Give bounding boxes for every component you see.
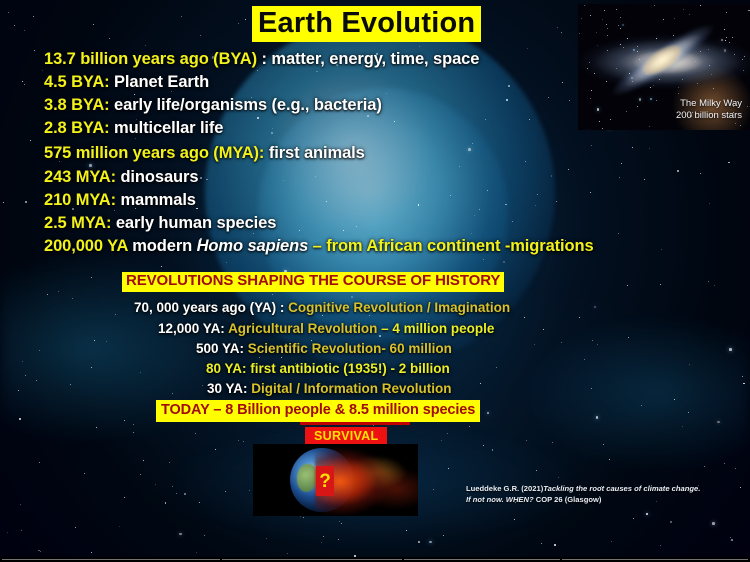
timeline-row: 575 million years ago (MYA): first anima… — [44, 144, 365, 163]
sapiens-time: 200,000 YA — [44, 237, 128, 255]
timeline-event: matter, energy, time, space — [271, 50, 479, 68]
timeline-time: 3.8 BYA: — [44, 96, 110, 114]
timeline-event: multicellar life — [114, 119, 223, 137]
revolution-event: Scientific Revolution- 60 million — [248, 341, 452, 356]
sapiens-pre: modern — [128, 237, 197, 255]
timeline-event: first animals — [269, 144, 365, 162]
milky-way-caption-line1: The Milky Way — [676, 98, 742, 110]
timeline-row: 210 MYA: mammals — [44, 191, 196, 210]
bottom-strip-segment — [404, 559, 560, 560]
question-mark-badge: ? — [316, 466, 334, 496]
sapiens-species: Homo sapiens — [197, 237, 309, 255]
sapiens-post: – from African continent -migrations — [308, 237, 593, 255]
revolution-row: 80 YA: first antibiotic (1935!) - 2 bill… — [206, 361, 450, 376]
timeline-row: 4.5 BYA: Planet Earth — [44, 73, 209, 92]
slide-canvas: Earth Evolution The Milky Way 200 billio… — [0, 0, 750, 562]
timeline-time: 4.5 BYA: — [44, 73, 110, 91]
revolution-time: 12,000 YA: — [158, 321, 228, 336]
page-title: Earth Evolution — [252, 6, 481, 42]
revolution-event: Digital / Information Revolution — [251, 381, 451, 396]
timeline-row: 13.7 billion years ago (BYA) : matter, e… — [44, 50, 479, 69]
revolution-row: 500 YA: Scientific Revolution- 60 millio… — [196, 341, 452, 356]
timeline-sep: : — [257, 50, 271, 68]
citation: Lueddeke G.R. (2021)Tackling the root ca… — [466, 483, 706, 505]
today-banner: TODAY – 8 Billion people & 8.5 million s… — [156, 400, 480, 422]
revolution-event: Cognitive Revolution / Imagination — [288, 300, 510, 315]
timeline-event: Planet Earth — [114, 73, 209, 91]
timeline-time: 13.7 billion years ago (BYA) — [44, 50, 257, 68]
bottom-strip — [0, 557, 750, 562]
timeline-event: early human species — [116, 214, 276, 232]
revolution-tail: – 4 million people — [381, 321, 494, 336]
timeline-time: 243 MYA: — [44, 168, 116, 186]
bottom-strip-segment — [222, 559, 402, 560]
revolution-event: Agricultural Revolution — [228, 321, 381, 336]
timeline-row: 2.5 MYA: early human species — [44, 214, 276, 233]
citation-author-year: Lueddeke G.R. (2021) — [466, 484, 543, 493]
bottom-strip-segment — [2, 559, 220, 560]
timeline-row: 2.8 BYA: multicellar life — [44, 119, 223, 138]
revolution-row: 30 YA: Digital / Information Revolution — [207, 381, 452, 396]
milky-way-caption-line2: 200 billion stars — [676, 110, 742, 122]
revolutions-header: REVOLUTIONS SHAPING THE COURSE OF HISTOR… — [122, 272, 504, 292]
timeline-time: 2.5 MYA: — [44, 214, 111, 232]
citation-venue: COP 26 (Glasgow) — [534, 495, 602, 504]
timeline-row: 243 MYA: dinosaurs — [44, 168, 198, 187]
revolution-time: 500 YA: — [196, 341, 248, 356]
timeline-row-sapiens: 200,000 YA modern Homo sapiens – from Af… — [44, 237, 594, 256]
revolution-row: 70, 000 years ago (YA) : Cognitive Revol… — [134, 300, 510, 315]
revolution-row: 12,000 YA: Agricultural Revolution – 4 m… — [158, 321, 494, 336]
burning-earth-image: ? — [253, 444, 418, 516]
today-underline — [300, 422, 410, 425]
revolution-time: 70, 000 years ago (YA) : — [134, 300, 288, 315]
timeline-time: 575 million years ago (MYA): — [44, 144, 264, 162]
revolution-time: 80 YA: first antibiotic (1935!) - 2 bill… — [206, 361, 450, 376]
timeline-event: early life/organisms (e.g., bacteria) — [114, 96, 382, 114]
bottom-strip-segment — [562, 559, 748, 560]
timeline-row: 3.8 BYA: early life/organisms (e.g., bac… — [44, 96, 382, 115]
question-mark-label: ? — [319, 472, 331, 491]
timeline-event: dinosaurs — [120, 168, 198, 186]
milky-way-image: The Milky Way 200 billion stars — [578, 4, 750, 130]
timeline-time: 210 MYA: — [44, 191, 116, 209]
revolution-time: 30 YA: — [207, 381, 251, 396]
timeline-event: mammals — [120, 191, 195, 209]
milky-way-caption: The Milky Way 200 billion stars — [676, 98, 742, 122]
timeline-time: 2.8 BYA: — [44, 119, 110, 137]
